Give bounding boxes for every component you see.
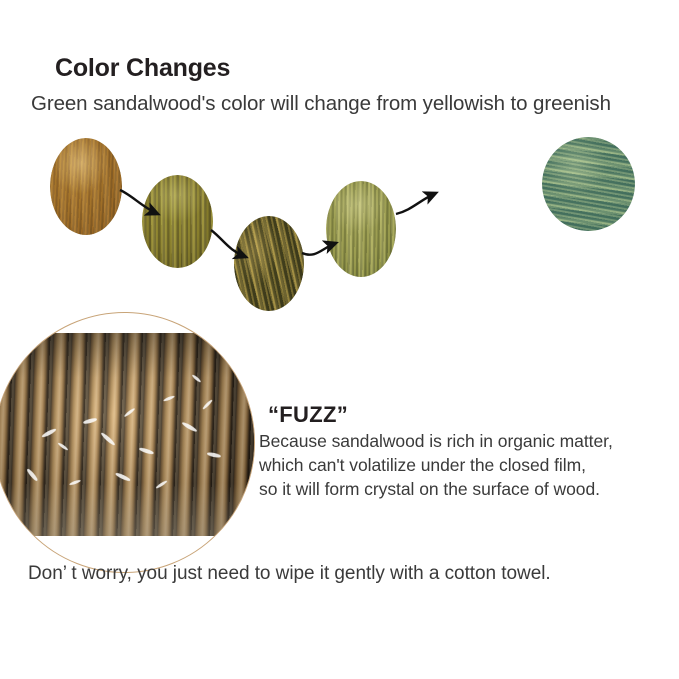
wood-disc-2 <box>142 175 213 268</box>
fuzz-wisps <box>0 333 254 536</box>
color-changes-subtitle: Green sandalwood's color will change fro… <box>31 92 611 116</box>
wood-disc-3 <box>234 216 304 311</box>
disc-2-sheen <box>142 175 213 268</box>
disc-4-sheen <box>326 181 396 277</box>
fuzz-body-line-1: Because sandalwood is rich in organic ma… <box>259 431 613 452</box>
fuzz-body-line-2: which can't volatilize under the closed … <box>259 455 586 476</box>
arrow-disc4-to-disc5-icon <box>396 193 436 214</box>
disc-5-sheen <box>542 137 635 231</box>
wood-disc-4 <box>326 181 396 277</box>
fuzz-title: “FUZZ” <box>268 402 348 428</box>
closing-note: Don’ t worry, you just need to wipe it g… <box>28 563 551 585</box>
page-title: Color Changes <box>55 54 230 83</box>
comb-photo <box>0 333 254 536</box>
fuzz-body-line-3: so it will form crystal on the surface o… <box>259 479 600 500</box>
disc-1-sheen <box>50 138 122 235</box>
disc-3-sheen <box>234 216 304 311</box>
wood-disc-5 <box>542 137 635 231</box>
infographic-page: Color Changes Green sandalwood's color w… <box>0 0 679 679</box>
wood-disc-1 <box>50 138 122 235</box>
comb-photo-circle <box>0 312 255 573</box>
